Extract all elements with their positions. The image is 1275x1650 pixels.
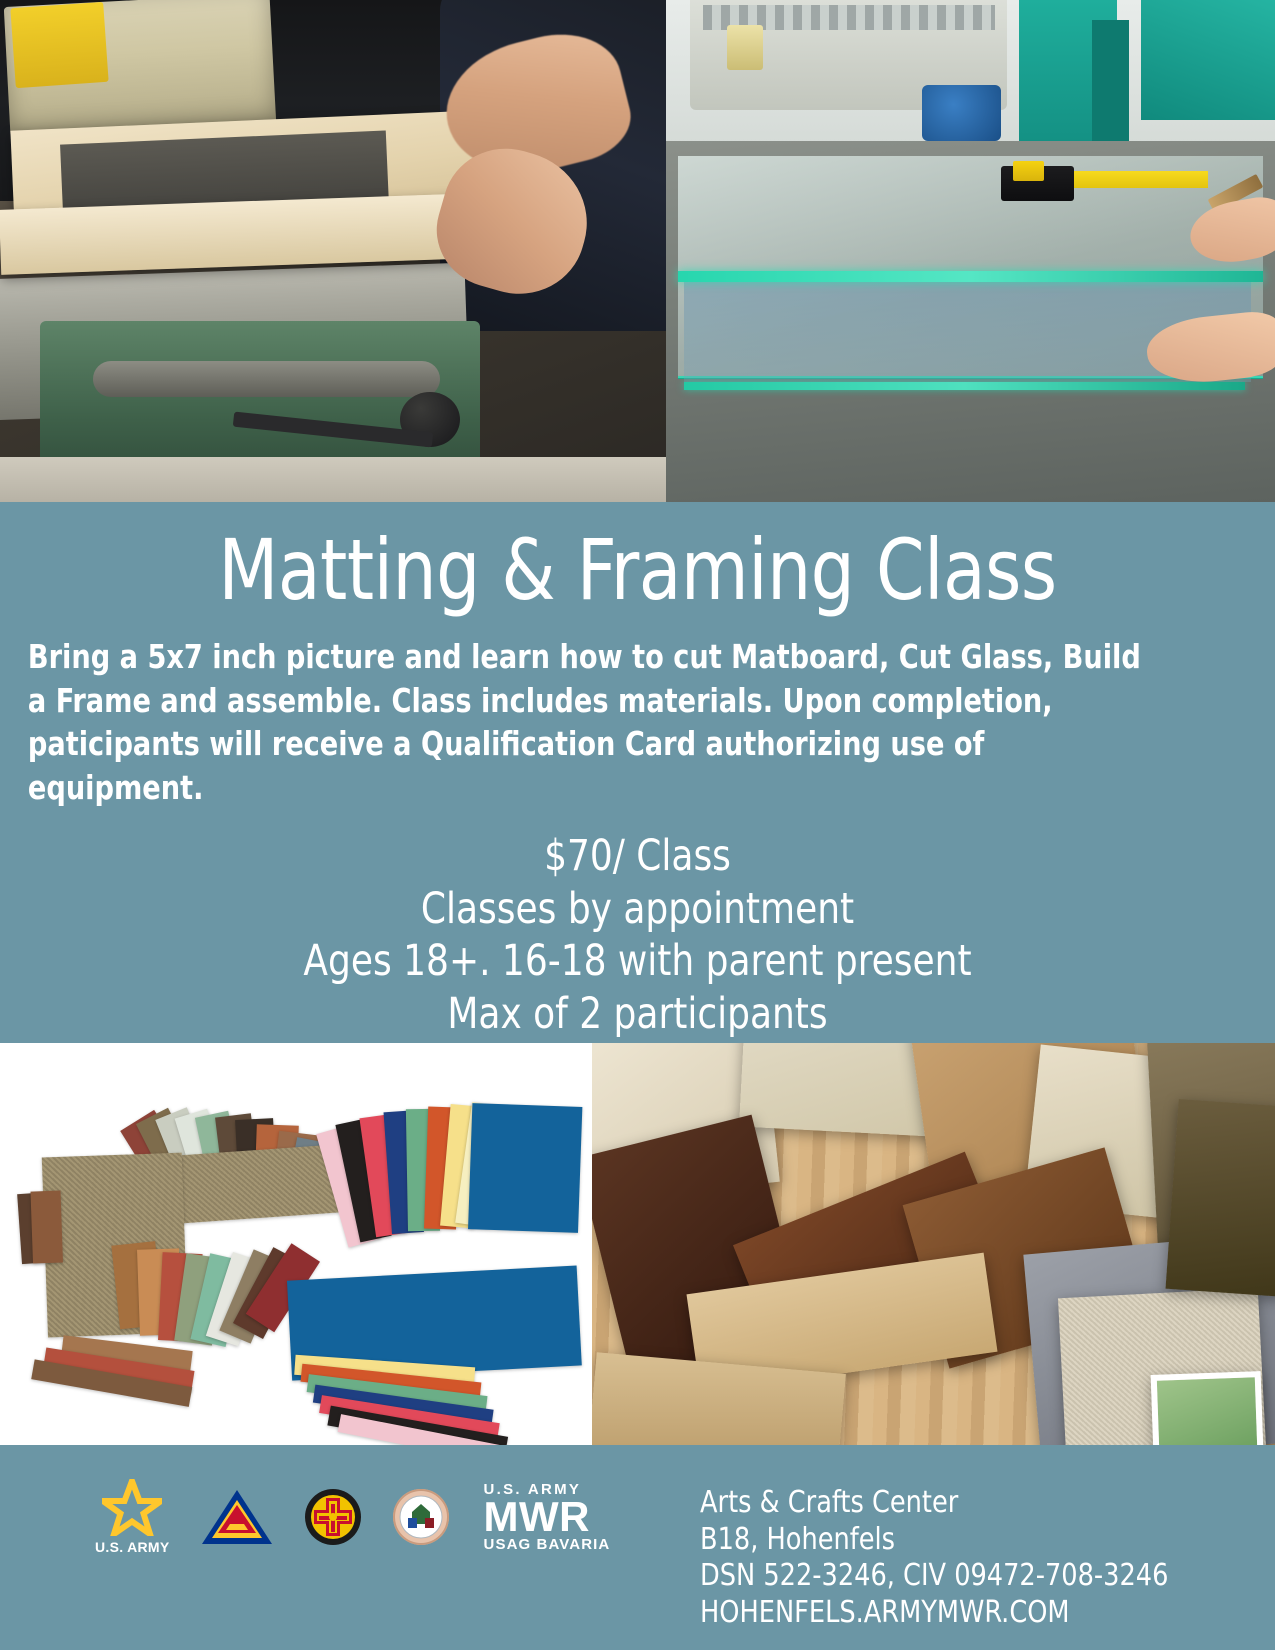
frame-corner-bronze bbox=[1166, 1099, 1275, 1297]
class-description: Bring a 5x7 inch picture and learn how t… bbox=[0, 612, 1186, 810]
woodworking-frame-on-saw-photo bbox=[0, 0, 666, 502]
star-icon bbox=[102, 1479, 162, 1536]
contact-venue: Arts & Crafts Center bbox=[700, 1485, 1168, 1522]
tape-measure-blade bbox=[1068, 171, 1208, 188]
us-army-star-logo: U.S. ARMY bbox=[95, 1479, 170, 1555]
glass-edge-highlight-1 bbox=[678, 271, 1263, 282]
contact-address: B18, Hohenfels bbox=[700, 1522, 1168, 1559]
saw-rail bbox=[93, 361, 439, 396]
tape-measure-yellow-top bbox=[1013, 161, 1043, 181]
footer-band: U.S. ARMY bbox=[0, 1445, 1275, 1650]
roller-yellow-guard bbox=[11, 2, 110, 89]
matboard-samples-photo bbox=[0, 1043, 592, 1445]
class-details: $70/ Class Classes by appointment Ages 1… bbox=[45, 810, 1231, 1040]
glass-edge-highlight-2 bbox=[684, 382, 1244, 390]
flyer-page: Matting & Framing Class Bring a 5x7 inch… bbox=[0, 0, 1275, 1650]
machine-yellow-roller bbox=[727, 25, 764, 70]
glass-cutting-table-photo bbox=[666, 0, 1275, 502]
detail-capacity: Max of 2 participants bbox=[45, 988, 1231, 1040]
usag-bavaria-seal-logo bbox=[392, 1488, 450, 1546]
contact-website[interactable]: HOHENFELS.ARMYMWR.COM bbox=[700, 1595, 1168, 1632]
contact-phone: DSN 522-3246, CIV 09472-708-3246 bbox=[700, 1558, 1168, 1595]
imcom-crest-logo bbox=[304, 1488, 362, 1546]
frame-photo-insert bbox=[1151, 1371, 1264, 1445]
info-band: Matting & Framing Class Bring a 5x7 inch… bbox=[0, 502, 1275, 1043]
detail-price: $70/ Class bbox=[45, 830, 1231, 882]
contact-block: Arts & Crafts Center B18, Hohenfels DSN … bbox=[700, 1485, 1168, 1631]
blue-motor bbox=[922, 85, 1001, 140]
mwr-wordmark: MWR bbox=[484, 1498, 590, 1537]
army-mwr-logo: U.S. ARMY MWR USAG BAVARIA bbox=[484, 1481, 611, 1554]
picture-frame-corners-photo bbox=[592, 1043, 1275, 1445]
detail-ages: Ages 18+. 16-18 with parent present bbox=[45, 935, 1231, 987]
detail-scheduling: Classes by appointment bbox=[45, 883, 1231, 935]
teal-machine-column-3 bbox=[1141, 0, 1275, 120]
teal-machine-column-2 bbox=[1092, 20, 1129, 140]
footer-logos: U.S. ARMY bbox=[95, 1479, 610, 1555]
seventh-army-patch-logo bbox=[200, 1488, 274, 1546]
workshop-floor bbox=[0, 457, 666, 502]
mwr-sub-label: USAG BAVARIA bbox=[484, 1536, 611, 1553]
bottom-photo-strip bbox=[0, 1043, 1275, 1445]
top-photo-strip bbox=[0, 0, 1275, 502]
mat-sample-blue bbox=[468, 1103, 582, 1233]
us-army-label: U.S. ARMY bbox=[95, 1539, 170, 1555]
page-title: Matting & Framing Class bbox=[51, 502, 1224, 612]
mat-sample bbox=[30, 1191, 62, 1264]
